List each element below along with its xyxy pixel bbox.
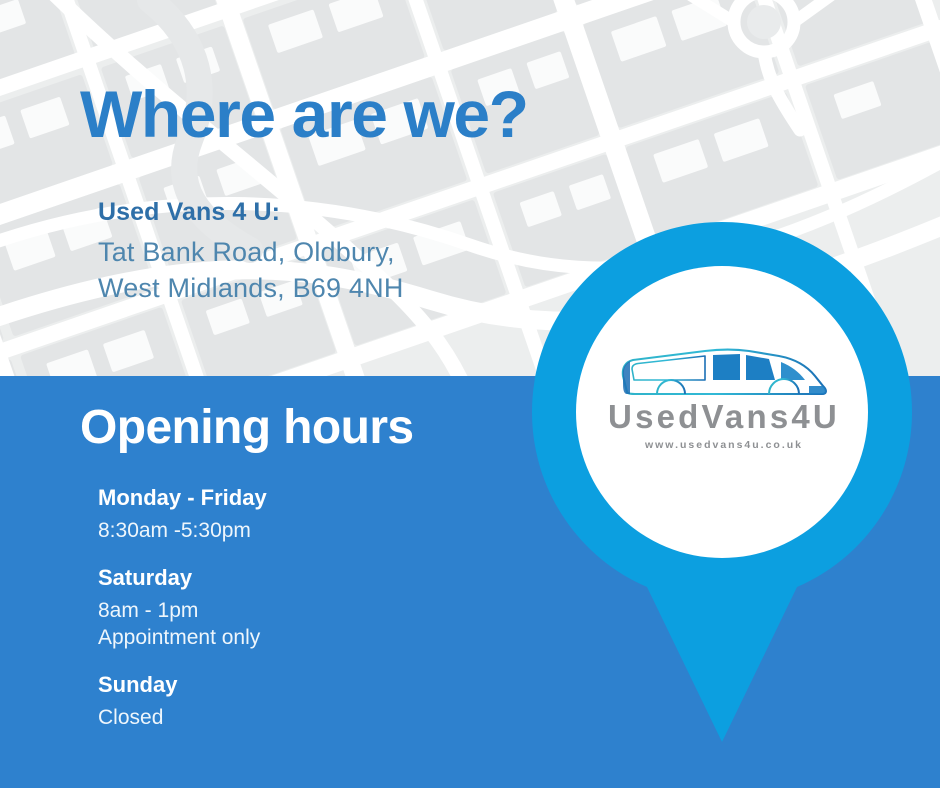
hours-day-label: Monday - Friday: [98, 487, 498, 509]
opening-hours-title: Opening hours: [80, 404, 414, 452]
map-pin: UsedVans4U www.usedvans4u.co.uk: [532, 222, 912, 747]
hours-day-label: Sunday: [98, 674, 498, 696]
logo-wordmark: UsedVans4U: [600, 400, 848, 433]
opening-hours-list: Monday - Friday 8:30am -5:30pm Saturday …: [98, 487, 498, 732]
map-pin-icon: [532, 222, 912, 747]
hours-time-value: Closed: [98, 704, 498, 732]
van-side-outline-icon: [609, 340, 839, 404]
hours-time-value: 8:30am -5:30pm: [98, 517, 498, 545]
hours-time-value: 8am - 1pm: [98, 597, 498, 625]
address-line-1: Tat Bank Road, Oldbury,: [98, 239, 404, 266]
page-title: Where are we?: [80, 81, 528, 147]
hours-group: Saturday 8am - 1pm Appointment only: [98, 567, 498, 652]
hours-day-label: Saturday: [98, 567, 498, 589]
address-block: Used Vans 4 U: Tat Bank Road, Oldbury, W…: [98, 200, 404, 311]
hours-note: Appointment only: [98, 624, 498, 652]
address-line-2: West Midlands, B69 4NH: [98, 275, 404, 302]
poster-canvas: Where are we? Used Vans 4 U: Tat Bank Ro…: [0, 0, 940, 788]
business-name: Used Vans 4 U:: [98, 200, 404, 225]
hours-group: Sunday Closed: [98, 674, 498, 732]
logo-website-url: www.usedvans4u.co.uk: [600, 440, 848, 451]
company-logo: UsedVans4U www.usedvans4u.co.uk: [600, 340, 848, 451]
hours-group: Monday - Friday 8:30am -5:30pm: [98, 487, 498, 545]
